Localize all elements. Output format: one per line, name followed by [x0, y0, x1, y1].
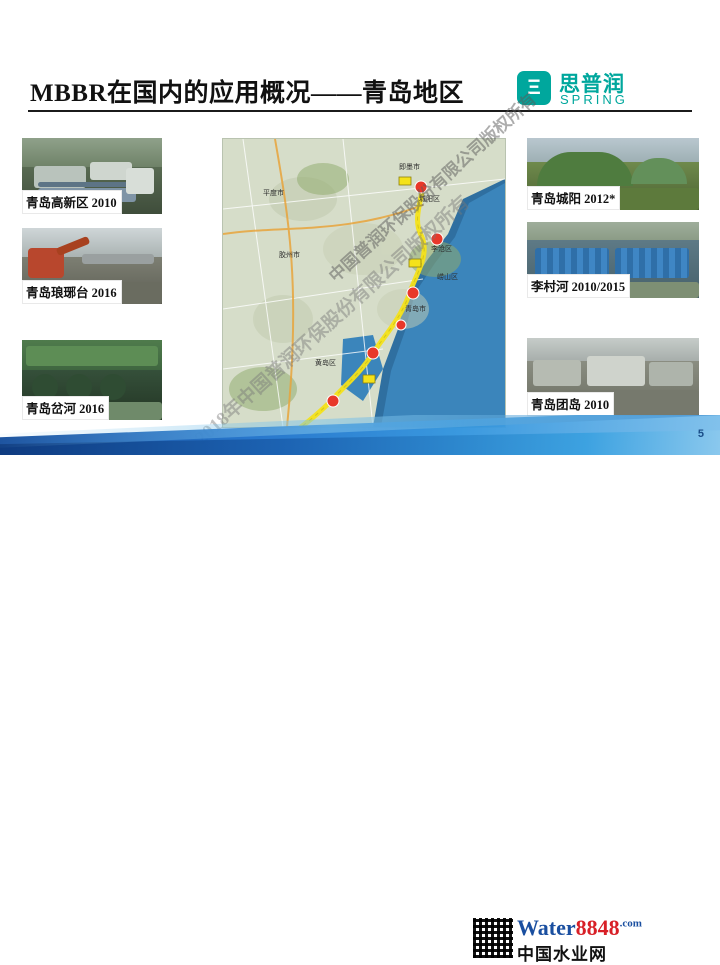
decorative-band	[0, 415, 720, 455]
svg-text:即墨市: 即墨市	[399, 162, 420, 171]
brand-line-2: 中国水业网	[517, 940, 607, 965]
photo-caption: 青岛琅琊台 2016	[22, 280, 122, 304]
brand-suffix-text: .com	[620, 918, 642, 930]
svg-text:平度市: 平度市	[263, 188, 284, 197]
company-logo: Ξ 思普润 SPRING	[517, 68, 692, 110]
svg-text:黄岛区: 黄岛区	[315, 358, 336, 367]
brand-water-text: Water	[517, 915, 576, 940]
slide-canvas: MBBR在国内的应用概况——青岛地区 Ξ 思普润 SPRING 青岛高新区 20…	[0, 0, 720, 455]
slide-root: MBBR在国内的应用概况——青岛地区 Ξ 思普润 SPRING 青岛高新区 20…	[0, 0, 720, 509]
title-divider	[28, 110, 692, 112]
brand-number-text: 8848	[576, 915, 620, 940]
photo-card-cenhe: 青岛岔河 2016	[22, 340, 162, 420]
photo-caption: 青岛城阳 2012*	[527, 186, 620, 210]
footer-brand: Water8848.com 中国水业网	[517, 915, 702, 961]
logo-en-name: SPRING	[560, 92, 628, 107]
svg-text:青岛市: 青岛市	[405, 304, 426, 313]
photo-card-chengyang: 青岛城阳 2012*	[527, 138, 699, 210]
svg-text:城阳区: 城阳区	[419, 194, 440, 203]
photo-caption: 李村河 2010/2015	[527, 274, 630, 298]
footer: Water8848.com 中国水业网	[0, 455, 720, 509]
svg-text:李沧区: 李沧区	[431, 244, 452, 253]
photo-card-langyatai: 青岛琅琊台 2016	[22, 228, 162, 304]
page-number: 5	[698, 428, 704, 440]
qingdao-region-map: 青岛市 胶州市 即墨市 黄岛区 崂山区 李沧区 城阳区 平度市	[222, 138, 506, 428]
photo-caption: 青岛团岛 2010	[527, 392, 614, 416]
qr-code-icon	[473, 918, 513, 958]
logo-glyph: Ξ	[517, 71, 551, 105]
photo-card-gaoxinqu: 青岛高新区 2010	[22, 138, 162, 214]
logo-mark-icon: Ξ	[517, 71, 551, 105]
photo-caption: 青岛高新区 2010	[22, 190, 122, 214]
page-title: MBBR在国内的应用概况——青岛地区	[30, 73, 464, 109]
photo-card-licunhe: 李村河 2010/2015	[527, 222, 699, 298]
brand-line-1: Water8848.com	[517, 915, 642, 941]
map-svg: 青岛市 胶州市 即墨市 黄岛区 崂山区 李沧区 城阳区 平度市	[223, 139, 505, 427]
photo-card-tuandao: 青岛团岛 2010	[527, 338, 699, 416]
svg-text:胶州市: 胶州市	[279, 250, 300, 259]
svg-text:崂山区: 崂山区	[437, 272, 458, 281]
